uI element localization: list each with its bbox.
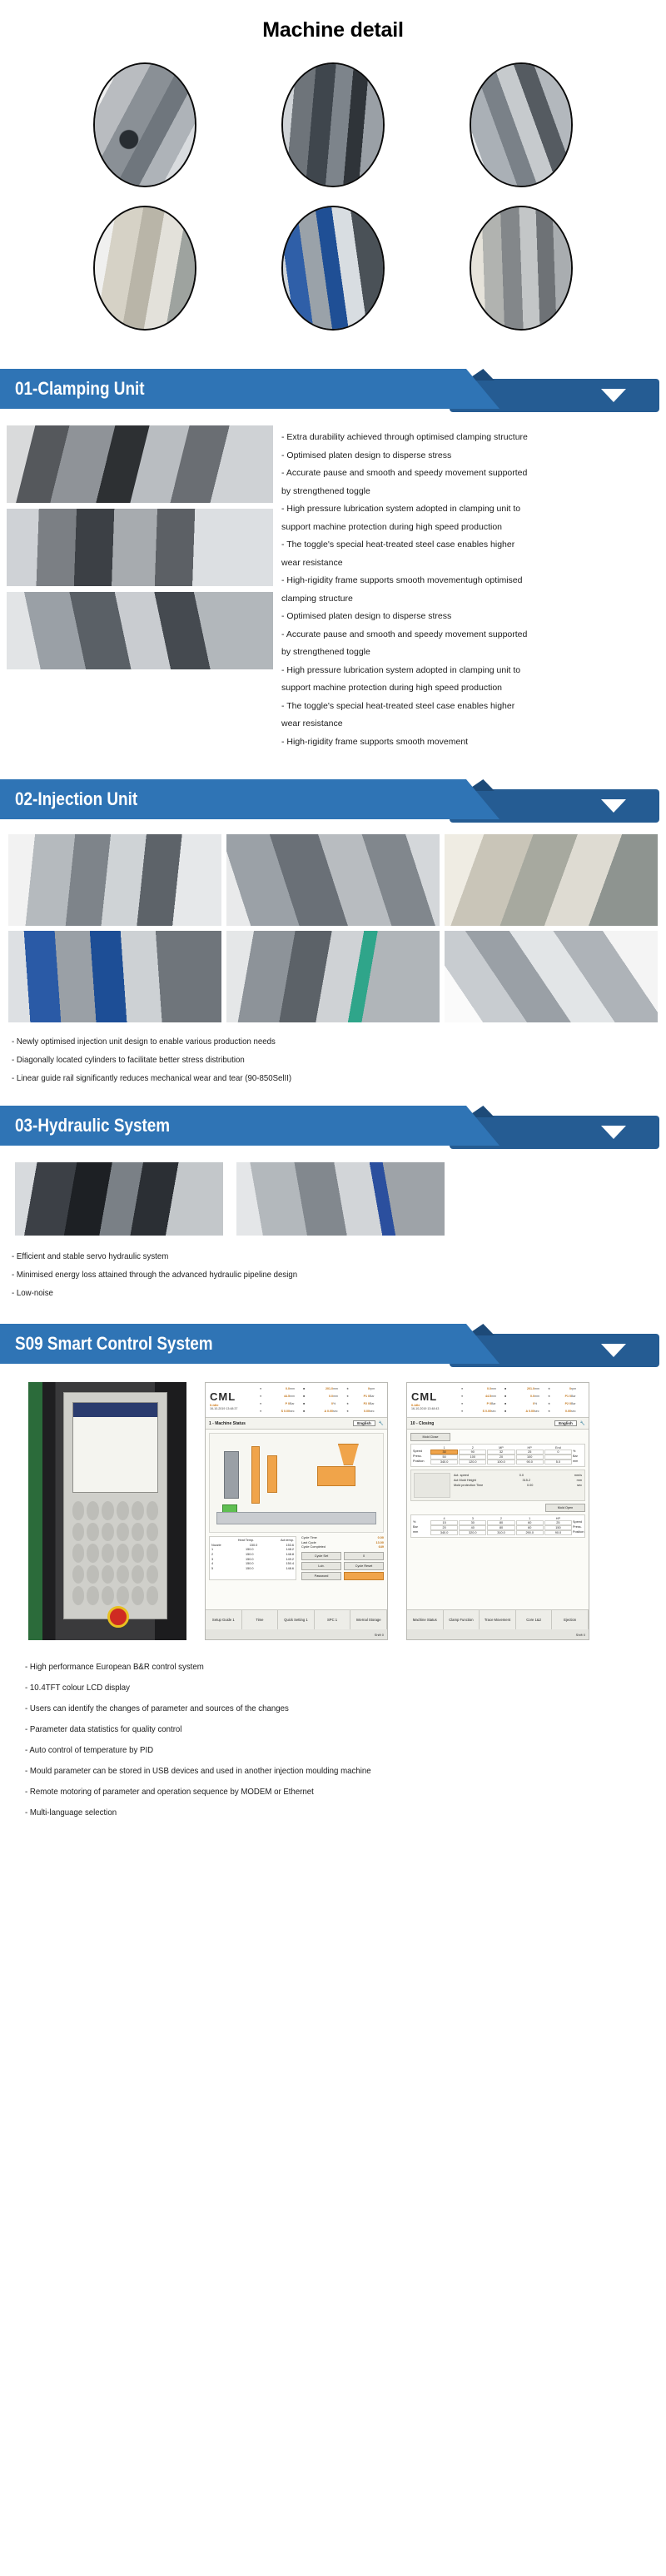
photo-injection-casting-photo bbox=[226, 834, 440, 926]
language-selector[interactable]: English bbox=[554, 1420, 577, 1426]
status-unit: Bar bbox=[290, 1402, 303, 1405]
tab-machine-status[interactable]: Machine Status bbox=[407, 1610, 444, 1629]
label-mold-protection-time: Mold protection Time bbox=[454, 1483, 483, 1488]
status-value: 44.5 bbox=[268, 1395, 290, 1398]
photo-screws-bundle-photo bbox=[445, 931, 658, 1022]
keypad-key[interactable] bbox=[117, 1586, 129, 1605]
list-item: - Accurate pause and smooth and speedy m… bbox=[281, 465, 661, 483]
status-row: ●44.5mm■0.0mm★P1 0Bar bbox=[461, 1392, 586, 1400]
hmi-logo-block: CML 0-Idle 16-10-2019 13:48:37 bbox=[206, 1383, 257, 1417]
keypad-key[interactable] bbox=[102, 1544, 114, 1563]
tab-quick-setting[interactable]: Quick Setting 1 bbox=[278, 1610, 315, 1629]
hmi-footer: Shift 0 bbox=[206, 1629, 387, 1639]
chevron-down-icon[interactable] bbox=[601, 799, 626, 813]
section-banner-injection[interactable]: 02-Injection Unit bbox=[0, 779, 666, 823]
photo-clamping-unit-photo-2 bbox=[7, 509, 273, 586]
machine-detail-gallery bbox=[58, 62, 608, 331]
label-cycle-completed: Cycle Completed bbox=[301, 1545, 326, 1550]
status-unit: mm bbox=[491, 1395, 504, 1398]
gallery-oval-platen-closeup bbox=[93, 206, 196, 331]
list-item: - The toggle's special heat-treated stee… bbox=[281, 536, 661, 554]
status-unit: rpm bbox=[370, 1387, 383, 1390]
status-row: ●44.5mm■0.0mm★P1 0Bar bbox=[260, 1392, 385, 1400]
status-value: 0 bbox=[311, 1402, 333, 1405]
gallery-oval-hydraulic-pump-closeup bbox=[470, 206, 573, 331]
list-item: - Auto control of temperature by PID bbox=[25, 1740, 614, 1761]
cell-pos-end[interactable]: 5.0 bbox=[544, 1460, 572, 1465]
keypad-key[interactable] bbox=[147, 1565, 159, 1584]
section-title-injection: 02-Injection Unit bbox=[15, 779, 137, 819]
keypad-key[interactable] bbox=[72, 1586, 85, 1605]
status-value: 0.0 bbox=[311, 1395, 333, 1398]
cell-pos-2[interactable]: 120.0 bbox=[459, 1460, 486, 1465]
schematic-fixed-platen bbox=[224, 1451, 240, 1499]
cycle-set-row: Cycle Set 0 bbox=[301, 1552, 384, 1560]
chevron-down-icon[interactable] bbox=[601, 1344, 626, 1357]
clamping-content: - Extra durability achieved through opti… bbox=[0, 412, 666, 751]
list-item: - Multi-language selection bbox=[25, 1803, 614, 1823]
value-cycle-completed: 649 bbox=[379, 1545, 384, 1550]
status-unit: sec bbox=[370, 1410, 383, 1413]
tab-clamp-function[interactable]: Clamp Function bbox=[444, 1610, 480, 1629]
photo-injection-cylinder-closeup bbox=[471, 64, 571, 186]
photo-gear-ring-closeup bbox=[283, 64, 383, 186]
tools-icon[interactable]: 🔧 bbox=[379, 1421, 384, 1426]
cell-open-pos-1[interactable]: 290.0 bbox=[516, 1530, 544, 1535]
section-banner-clamping[interactable]: 01-Clamping Unit bbox=[0, 369, 666, 412]
status-value: A 0.00 bbox=[513, 1410, 534, 1413]
password-button[interactable]: Password bbox=[301, 1572, 341, 1580]
keypad-key[interactable] bbox=[72, 1565, 85, 1584]
shift-indicator: Shift 0 bbox=[576, 1633, 585, 1637]
hmi-status-header: CML 0-Idle 16-10-2019 13:48:43 ●0.0mm■20… bbox=[407, 1383, 589, 1418]
list-item: - Users can identify the changes of para… bbox=[25, 1698, 614, 1719]
section-title-clamping: 01-Clamping Unit bbox=[15, 369, 145, 409]
status-row: ●0.0mm■201.0mm★0rpm bbox=[461, 1385, 586, 1392]
list-item: - High pressure lubrication system adopt… bbox=[281, 500, 661, 519]
keypad-key[interactable] bbox=[102, 1586, 114, 1605]
keypad-key[interactable] bbox=[132, 1544, 144, 1563]
cell-pos-mp[interactable]: 100.0 bbox=[487, 1460, 514, 1465]
keypad-key[interactable] bbox=[132, 1501, 144, 1520]
icon-mold: ■ bbox=[504, 1395, 513, 1398]
tab-spc[interactable]: SPC 1 bbox=[315, 1610, 351, 1629]
status-unit: sec bbox=[571, 1410, 584, 1413]
status-unit: Bar bbox=[370, 1402, 383, 1405]
list-item: - Optimised platen design to disperse st… bbox=[281, 447, 661, 465]
mold-close-parameter-table: 1 2 MP HP End Speed 30 90 32 25 0 % bbox=[410, 1444, 585, 1467]
keypad-key[interactable] bbox=[117, 1501, 129, 1520]
table-row: Mold protection Time0.00sec bbox=[454, 1483, 582, 1488]
unit-position: mm bbox=[573, 1460, 583, 1465]
machine-schematic bbox=[209, 1433, 384, 1533]
keypad-key[interactable] bbox=[147, 1544, 159, 1563]
keypad-key[interactable] bbox=[147, 1501, 159, 1520]
unit-mold-protection-time: sec bbox=[577, 1483, 582, 1488]
tab-trace-movement[interactable]: Trace Movement bbox=[480, 1610, 516, 1629]
icon-mold: ■ bbox=[504, 1387, 513, 1390]
schematic-base bbox=[216, 1512, 375, 1524]
keypad-key[interactable] bbox=[147, 1523, 159, 1542]
tab-internal-storage[interactable]: Internal Storage bbox=[350, 1610, 387, 1629]
status-value: A 0.00 bbox=[311, 1410, 333, 1413]
mold-close-row: Mold Close bbox=[410, 1433, 585, 1441]
list-item: - Remote motoring of parameter and opera… bbox=[25, 1782, 614, 1803]
status-value: P1 0 bbox=[556, 1395, 571, 1398]
keypad-key[interactable] bbox=[72, 1523, 85, 1542]
icon-pressure: ★ bbox=[346, 1395, 355, 1398]
icon-clock: ★ bbox=[346, 1410, 355, 1413]
status-unit: mm bbox=[333, 1395, 346, 1398]
gallery-oval-injection-cylinder-closeup bbox=[470, 62, 573, 187]
cell-pos-hp[interactable]: 90.0 bbox=[516, 1460, 544, 1465]
status-unit: mm bbox=[534, 1395, 548, 1398]
status-value: P2 0 bbox=[556, 1402, 571, 1405]
status-value: P2 0 bbox=[355, 1402, 370, 1405]
list-item: by strengthened toggle bbox=[281, 644, 661, 662]
status-unit: mm bbox=[290, 1387, 303, 1390]
cell-pos-1[interactable]: 340.0 bbox=[430, 1460, 458, 1465]
control-bullet-list: - High performance European B&R control … bbox=[25, 1657, 666, 1823]
mold-close-button[interactable]: Mold Close bbox=[410, 1433, 450, 1441]
control-panel-keypad bbox=[72, 1501, 159, 1605]
photo-linear-guide-rail-photo bbox=[226, 931, 440, 1022]
cell-open-pos-2[interactable]: 310.0 bbox=[487, 1530, 514, 1535]
schematic-hopper bbox=[338, 1444, 359, 1465]
icon-screw: ● bbox=[260, 1387, 268, 1390]
mold-open-parameter-table: 4 3 2 1 HP % 15 30 80 60 25 Speed bbox=[410, 1514, 585, 1538]
gallery-oval-gear-ring-closeup bbox=[281, 62, 385, 187]
icon-rpm: ★ bbox=[346, 1387, 355, 1390]
emergency-stop-button[interactable] bbox=[107, 1606, 129, 1628]
chevron-down-icon[interactable] bbox=[601, 389, 626, 402]
keypad-key[interactable] bbox=[102, 1565, 114, 1584]
injection-bullet-list: - Newly optimised injection unit design … bbox=[12, 1032, 666, 1087]
mold-open-row: Mold Open bbox=[410, 1504, 585, 1512]
brand-logo: CML bbox=[411, 1390, 459, 1403]
status-value: P1 0 bbox=[355, 1395, 370, 1398]
list-item: wear resistance bbox=[281, 554, 661, 573]
status-unit: rpm bbox=[571, 1387, 584, 1390]
cell-open-pos-3[interactable]: 320.0 bbox=[459, 1530, 486, 1535]
input-cycle-set[interactable]: 0 bbox=[344, 1552, 384, 1560]
list-item: - High performance European B&R control … bbox=[25, 1657, 614, 1678]
list-item: support machine protection during high s… bbox=[281, 679, 661, 698]
cell-zone: 5 bbox=[211, 1567, 213, 1572]
gallery-oval-hydraulic-valve-closeup bbox=[281, 206, 385, 331]
hmi-logo-block: CML 0-Idle 16-10-2019 13:48:43 bbox=[407, 1383, 459, 1417]
status-value: P 0 bbox=[268, 1402, 290, 1405]
list-item: clamping structure bbox=[281, 590, 661, 609]
icon-screw: ● bbox=[260, 1410, 268, 1413]
keypad-key[interactable] bbox=[102, 1501, 114, 1520]
icon-mold: ■ bbox=[504, 1402, 513, 1405]
status-tables: Heat Temp.Act.temp. Nozzle150.0153.6 115… bbox=[209, 1536, 384, 1580]
photo-clamping-toggle-closeup bbox=[95, 64, 195, 186]
icon-screw: ● bbox=[461, 1402, 470, 1405]
heat-temperature-table: Heat Temp.Act.temp. Nozzle150.0153.6 115… bbox=[209, 1536, 296, 1580]
shift-indicator: Shift 0 bbox=[375, 1633, 384, 1637]
status-value: 0.0 bbox=[268, 1387, 290, 1390]
keypad-key[interactable] bbox=[87, 1544, 99, 1563]
icon-rpm: ★ bbox=[548, 1387, 556, 1390]
list-item: wear resistance bbox=[281, 715, 661, 734]
keypad-key[interactable] bbox=[87, 1586, 99, 1605]
list-item: - High-rigidity frame supports smooth mo… bbox=[281, 734, 661, 752]
icon-screw: ● bbox=[461, 1387, 470, 1390]
list-item: - Minimised energy loss attained through… bbox=[12, 1266, 614, 1284]
list-item: - Linear guide rail significantly reduce… bbox=[12, 1069, 614, 1087]
list-item: - Extra durability achieved through opti… bbox=[281, 429, 661, 447]
value-mold-protection-time: 0.00 bbox=[527, 1483, 533, 1488]
status-unit: Bar bbox=[491, 1402, 504, 1405]
hmi-screen-title-bar: 1 - Machine Status English 🔧 bbox=[206, 1418, 387, 1430]
icon-pressure: ★ bbox=[548, 1395, 556, 1398]
hmi-screen-machine-status[interactable]: CML 0-Idle 16-10-2019 13:48:37 ●0.0mm■20… bbox=[205, 1382, 388, 1640]
status-unit: sec bbox=[534, 1410, 548, 1413]
keypad-key[interactable] bbox=[87, 1565, 99, 1584]
tab-time[interactable]: Time bbox=[242, 1610, 279, 1629]
hmi-status-values: ●0.0mm■201.0mm★0rpm ●44.5mm■0.0mm★P1 0Ba… bbox=[257, 1383, 387, 1417]
schematic-mold bbox=[267, 1455, 277, 1493]
photo-servo-motor-pump-photo bbox=[15, 1162, 223, 1236]
control-photo-row: CML 0-Idle 16-10-2019 13:48:37 ●0.0mm■20… bbox=[0, 1367, 666, 1640]
hmi-footer: Shift 0 bbox=[407, 1629, 589, 1639]
list-item: - Mould parameter can be stored in USB d… bbox=[25, 1761, 614, 1782]
status-value: 201.0 bbox=[311, 1387, 333, 1390]
status-unit: Bar bbox=[370, 1395, 383, 1398]
tab-setup-guide[interactable]: Setup Guide 1 bbox=[206, 1610, 242, 1629]
hydraulic-bullet-list: - Efficient and stable servo hydraulic s… bbox=[12, 1247, 666, 1302]
hmi-screen-title-bar: 10 - Closing English 🔧 bbox=[407, 1418, 589, 1430]
table-row: mm 340.0 320.0 310.0 290.0 90.0 Position bbox=[413, 1530, 583, 1535]
section-title-hydraulic: 03-Hydraulic System bbox=[15, 1106, 170, 1146]
table-row: Cycle Completed649 bbox=[301, 1545, 384, 1550]
hmi-status-header: CML 0-Idle 16-10-2019 13:48:37 ●0.0mm■20… bbox=[206, 1383, 387, 1418]
schematic-barrel bbox=[317, 1466, 355, 1486]
icon-mold: ■ bbox=[504, 1410, 513, 1413]
status-value: 0.00 bbox=[556, 1410, 571, 1413]
list-item: - Newly optimised injection unit design … bbox=[12, 1032, 614, 1051]
screen-title: 10 - Closing bbox=[410, 1421, 434, 1426]
list-item: by strengthened toggle bbox=[281, 483, 661, 501]
photo-hydraulic-valve-closeup bbox=[283, 207, 383, 329]
password-indicator bbox=[344, 1572, 384, 1580]
status-unit: mm bbox=[333, 1387, 346, 1390]
mold-info-values: Act. speed0.0mm/s Act Mold Height315.2mm… bbox=[454, 1473, 582, 1498]
status-row: ●S 0.00sec■A 0.00sec★0.00sec bbox=[461, 1408, 586, 1415]
injection-text-block: - Newly optimised injection unit design … bbox=[0, 1022, 666, 1087]
injection-photo-grid bbox=[0, 823, 666, 1022]
status-unit: Bar bbox=[571, 1395, 584, 1398]
tab-core-1-2[interactable]: Core 1&2 bbox=[516, 1610, 553, 1629]
status-value: 0.0 bbox=[513, 1395, 534, 1398]
label-cycle-set: Cycle Set bbox=[301, 1552, 341, 1560]
brand-logo: CML bbox=[210, 1390, 257, 1403]
icon-mold: ■ bbox=[303, 1402, 311, 1405]
status-value: 0 bbox=[556, 1387, 571, 1390]
list-item: - High-rigidity frame supports smooth mo… bbox=[281, 572, 661, 590]
list-item: - Parameter data statistics for quality … bbox=[25, 1719, 614, 1740]
password-row: Password bbox=[301, 1572, 384, 1580]
gallery-oval-clamping-toggle-closeup bbox=[93, 62, 196, 187]
icon-screw: ● bbox=[260, 1395, 268, 1398]
table-row: 5150.0148.6 bbox=[211, 1567, 294, 1572]
schematic-moving-platen bbox=[251, 1446, 260, 1503]
list-item: - Optimised platen design to disperse st… bbox=[281, 608, 661, 626]
icon-clock: ★ bbox=[548, 1410, 556, 1413]
chevron-down-icon[interactable] bbox=[601, 1126, 626, 1139]
keypad-key[interactable] bbox=[117, 1565, 129, 1584]
keypad-key[interactable] bbox=[132, 1523, 144, 1542]
icon-pressure: ★ bbox=[548, 1402, 556, 1405]
hmi-screen-closing[interactable]: CML 0-Idle 16-10-2019 13:48:43 ●0.0mm■20… bbox=[406, 1382, 589, 1640]
keypad-key[interactable] bbox=[87, 1523, 99, 1542]
mold-open-button[interactable]: Mold Open bbox=[545, 1504, 585, 1512]
icon-mold: ■ bbox=[303, 1410, 311, 1413]
photo-injection-screw-barrel-photo bbox=[8, 834, 221, 926]
cell-act: 148.6 bbox=[286, 1567, 294, 1572]
status-value: 0.0 bbox=[470, 1387, 491, 1390]
status-value: 0.00 bbox=[355, 1410, 370, 1413]
cycle-info-table: Cycle Time0.00 Last Cycle13.00 Cycle Com… bbox=[300, 1536, 384, 1580]
status-value: S 0.00 bbox=[470, 1410, 491, 1413]
status-unit: sec bbox=[333, 1410, 346, 1413]
clamping-text-column: - Extra durability achieved through opti… bbox=[281, 425, 661, 751]
tab-ejection[interactable]: Ejection bbox=[552, 1610, 589, 1629]
keypad-key[interactable] bbox=[72, 1544, 85, 1563]
status-value: S 0.00 bbox=[268, 1410, 290, 1413]
photo-clamping-unit-photo-1 bbox=[7, 425, 273, 503]
icon-screw: ● bbox=[260, 1402, 268, 1405]
status-unit: % bbox=[534, 1402, 548, 1405]
cell-open-pos-4[interactable]: 340.0 bbox=[430, 1530, 458, 1535]
list-item: - Accurate pause and smooth and speedy m… bbox=[281, 626, 661, 644]
status-value: 44.5 bbox=[470, 1395, 491, 1398]
keypad-key[interactable] bbox=[132, 1586, 144, 1605]
photo-operator-control-panel bbox=[28, 1382, 186, 1640]
cell-open-pos-hp[interactable]: 90.0 bbox=[544, 1530, 572, 1535]
list-item: - 10.4TFT colour LCD display bbox=[25, 1678, 614, 1698]
list-item: - Low-noise bbox=[12, 1284, 614, 1302]
status-unit: % bbox=[333, 1402, 346, 1405]
keypad-key[interactable] bbox=[147, 1586, 159, 1605]
section-banner-control[interactable]: S09 Smart Control System bbox=[0, 1324, 666, 1367]
status-unit: sec bbox=[290, 1410, 303, 1413]
mold-mini-schematic bbox=[414, 1473, 450, 1498]
cycle-reset-button[interactable]: Cycle Reset bbox=[344, 1562, 384, 1570]
hmi-tab-bar: Setup Guide 1 Time Quick Setting 1 SPC 1… bbox=[206, 1609, 387, 1629]
status-row: ●P 0Bar■0%★P2 0Bar bbox=[260, 1400, 385, 1408]
status-unit: mm bbox=[491, 1387, 504, 1390]
status-value: 0 bbox=[513, 1402, 534, 1405]
photo-hydraulic-valve-block-photo bbox=[8, 931, 221, 1022]
clamping-photo-column bbox=[7, 425, 273, 751]
status-value: P 0 bbox=[470, 1402, 491, 1405]
photo-clamping-unit-photo-3 bbox=[7, 592, 273, 669]
hmi-screen-body: Mold Close 1 2 MP HP End Speed 30 90 bbox=[407, 1430, 589, 1609]
action-buttons-row: Lub. Cycle Reset bbox=[301, 1562, 384, 1570]
list-item: support machine protection during high s… bbox=[281, 519, 661, 537]
mold-info-box: Act. speed0.0mm/s Act Mold Height315.2mm… bbox=[410, 1470, 585, 1501]
table-row: Position 340.0 120.0 100.0 90.0 5.0 mm bbox=[413, 1460, 583, 1465]
status-unit: mm bbox=[534, 1387, 548, 1390]
keypad-key[interactable] bbox=[117, 1544, 129, 1563]
status-row: ●S 0.00sec■A 0.00sec★0.00sec bbox=[260, 1408, 385, 1415]
keypad-key[interactable] bbox=[87, 1501, 99, 1520]
keypad-key[interactable] bbox=[117, 1523, 129, 1542]
section-title-control: S09 Smart Control System bbox=[15, 1324, 213, 1364]
timestamp: 16-10-2019 13:48:43 bbox=[411, 1407, 459, 1410]
spacer bbox=[453, 1433, 585, 1441]
hydraulic-photo-row bbox=[0, 1149, 666, 1236]
timestamp: 16-10-2019 13:48:37 bbox=[210, 1407, 257, 1410]
status-value: 201.0 bbox=[513, 1387, 534, 1390]
icon-mold: ■ bbox=[303, 1395, 311, 1398]
list-item: - Efficient and stable servo hydraulic s… bbox=[12, 1247, 614, 1266]
photo-platen-closeup bbox=[95, 207, 195, 329]
screen-title: 1 - Machine Status bbox=[209, 1421, 246, 1426]
clamping-bullet-list: - Extra durability achieved through opti… bbox=[281, 429, 661, 751]
page-title: Machine detail bbox=[0, 0, 666, 42]
status-row: ●0.0mm■201.0mm★0rpm bbox=[260, 1385, 385, 1392]
status-unit: Bar bbox=[571, 1402, 584, 1405]
status-unit: mm bbox=[290, 1395, 303, 1398]
keypad-key[interactable] bbox=[72, 1501, 85, 1520]
list-item: - The toggle's special heat-treated stee… bbox=[281, 698, 661, 716]
cell-set[interactable]: 150.0 bbox=[246, 1567, 254, 1572]
lubrication-button[interactable]: Lub. bbox=[301, 1562, 341, 1570]
language-selector[interactable]: English bbox=[353, 1420, 375, 1426]
unit-position: mm bbox=[413, 1530, 430, 1535]
lcd-header-bar bbox=[73, 1403, 158, 1417]
keypad-key[interactable] bbox=[102, 1523, 114, 1542]
list-item: - Diagonally located cylinders to facili… bbox=[12, 1051, 614, 1069]
hydraulic-text-block: - Efficient and stable servo hydraulic s… bbox=[0, 1236, 666, 1302]
status-value: 0 bbox=[355, 1387, 370, 1390]
row-label-position: Position bbox=[573, 1530, 583, 1535]
photo-hydraulic-pump-photo bbox=[236, 1162, 445, 1236]
list-item: - High pressure lubrication system adopt… bbox=[281, 662, 661, 680]
icon-screw: ● bbox=[461, 1395, 470, 1398]
photo-hydraulic-pump-closeup bbox=[471, 207, 571, 329]
section-banner-hydraulic[interactable]: 03-Hydraulic System bbox=[0, 1106, 666, 1149]
status-row: ●P 0Bar■0%★P2 0Bar bbox=[461, 1400, 586, 1408]
row-label-position: Position bbox=[413, 1460, 430, 1465]
hmi-tab-bar: Machine Status Clamp Function Trace Move… bbox=[407, 1609, 589, 1629]
control-panel-lcd bbox=[72, 1402, 159, 1492]
hmi-status-values: ●0.0mm■201.0mm★0rpm ●44.5mm■0.0mm★P1 0Ba… bbox=[459, 1383, 589, 1417]
control-text-block: - High performance European B&R control … bbox=[0, 1640, 666, 1823]
hmi-screen-body: Heat Temp.Act.temp. Nozzle150.0153.6 115… bbox=[206, 1430, 387, 1609]
control-panel-body bbox=[63, 1392, 167, 1619]
icon-screw: ● bbox=[461, 1410, 470, 1413]
icon-mold: ■ bbox=[303, 1387, 311, 1390]
keypad-key[interactable] bbox=[132, 1565, 144, 1584]
tools-icon[interactable]: 🔧 bbox=[580, 1421, 585, 1426]
photo-platen-tiebar-photo bbox=[445, 834, 658, 926]
status-unit: sec bbox=[491, 1410, 504, 1413]
icon-pressure: ★ bbox=[346, 1402, 355, 1405]
